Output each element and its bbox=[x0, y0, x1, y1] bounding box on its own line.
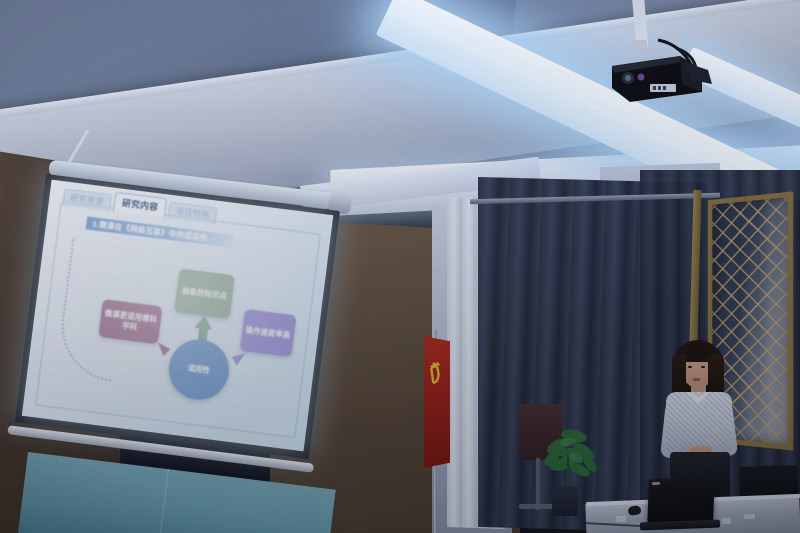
diagram-connector-right bbox=[231, 352, 246, 367]
projection-surface: 研究背景 研究内容 项目特色 1.微课在《网络互联》中的适用性 微课更适用哪科学… bbox=[22, 180, 334, 452]
diagram-center-node: 适用性 bbox=[165, 336, 232, 403]
laptop-brand-logo bbox=[652, 482, 660, 485]
potted-plant-icon bbox=[538, 420, 600, 498]
room-photo-scene: 研究背景 研究内容 项目特色 1.微课在《网络互联》中的适用性 微课更适用哪科学… bbox=[0, 0, 800, 533]
diagram-node-right: 操作速度率高 bbox=[240, 309, 297, 357]
eye-left bbox=[688, 366, 692, 368]
mouth bbox=[693, 378, 700, 381]
hammer-and-sickle-icon bbox=[427, 360, 443, 386]
diagram-arrow-up-icon bbox=[194, 315, 213, 330]
diagram-node-top: 抽象的知识点 bbox=[174, 268, 235, 319]
cpc-party-flag bbox=[424, 336, 450, 468]
diagram-connector-left bbox=[156, 342, 171, 357]
projection-screen-assembly[interactable]: 研究背景 研究内容 项目特色 1.微课在《网络互联》中的适用性 微课更适用哪科学… bbox=[3, 167, 341, 488]
screen-black-border: 研究背景 研究内容 项目特色 1.微课在《网络互联》中的适用性 微课更适用哪科学… bbox=[15, 174, 340, 459]
desk-small-object[interactable] bbox=[744, 514, 755, 519]
projector-icon bbox=[608, 44, 718, 104]
desk-small-object[interactable] bbox=[722, 518, 731, 524]
powerpoint-slide: 研究背景 研究内容 项目特色 1.微课在《网络互联》中的适用性 微课更适用哪科学… bbox=[22, 180, 334, 452]
concept-diagram: 微课更适用哪科学科 抽象的知识点 操作速度率高 适用性 bbox=[22, 180, 334, 452]
eye-right bbox=[701, 366, 705, 368]
diagram-node-left: 微课更适用哪科学科 bbox=[98, 299, 162, 344]
desk-small-object[interactable] bbox=[616, 516, 626, 522]
